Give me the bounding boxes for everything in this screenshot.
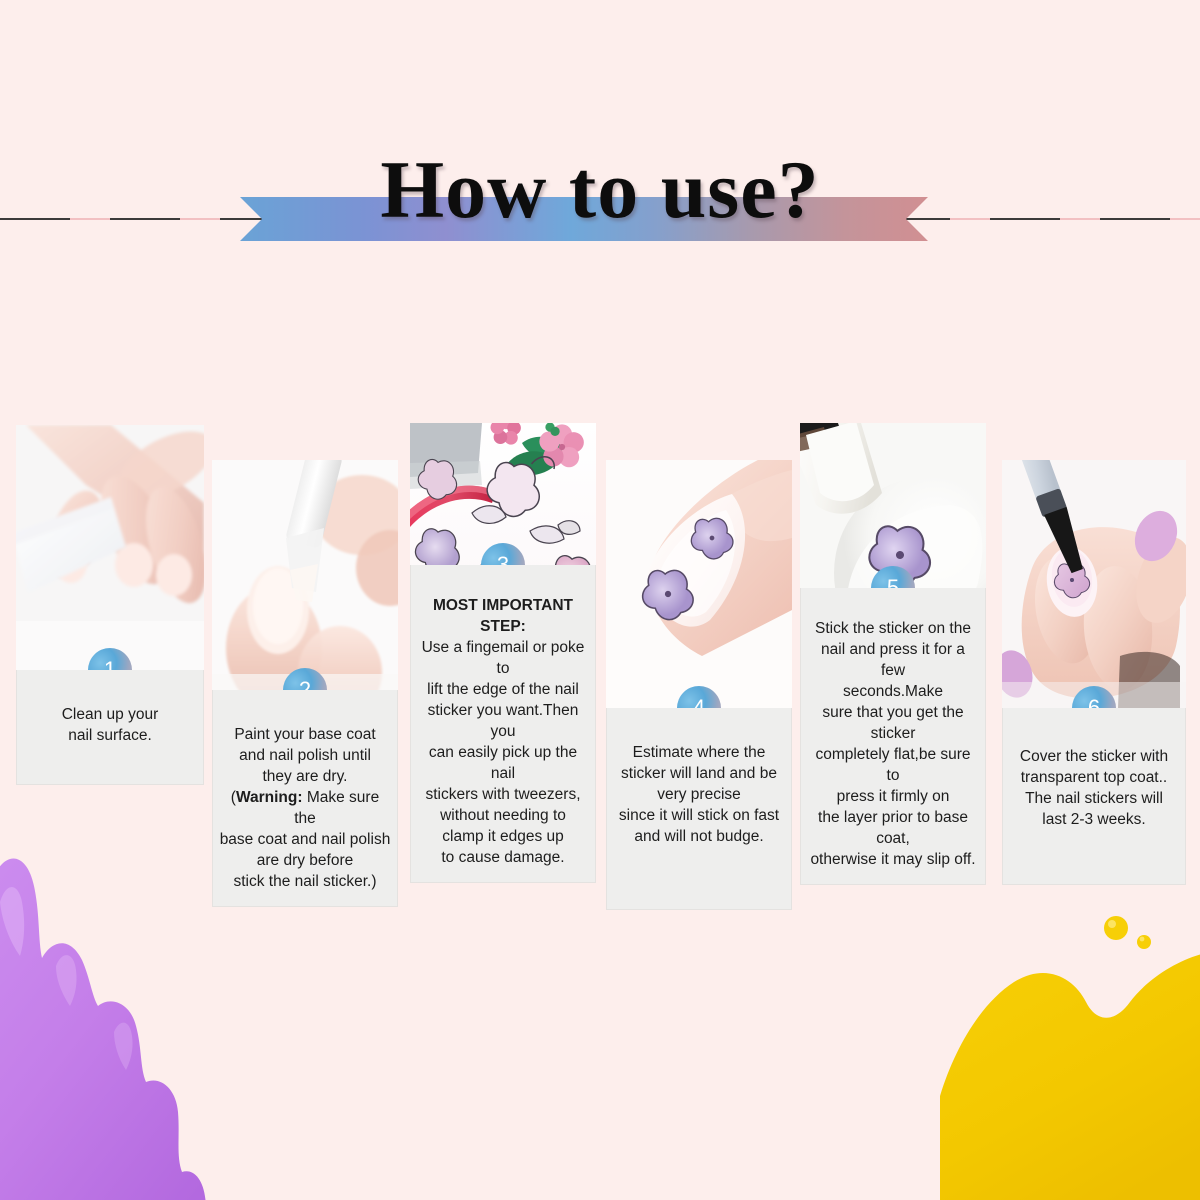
- step-panel-3: 3 MOST IMPORTANT STEP: Use a fingemail o…: [410, 423, 596, 883]
- step-caption-4: Estimate where the sticker will land and…: [606, 708, 792, 910]
- step-photo-6: 6: [1002, 460, 1186, 708]
- caption-line: very precise: [613, 784, 785, 805]
- infographic-canvas: How to use?: [0, 0, 1200, 1200]
- step-panel-5: 5 Stick the sticker on the nail and pres…: [800, 423, 986, 885]
- yellow-paint-splash: [940, 900, 1200, 1200]
- caption-line: they are dry.: [219, 766, 391, 787]
- caption-line: sure that you get the sticker: [807, 702, 979, 744]
- step-caption-5: Stick the sticker on the nail and press …: [800, 588, 986, 885]
- step-panel-6: 6 Cover the sticker with transparent top…: [1002, 460, 1186, 885]
- step-caption-3: MOST IMPORTANT STEP: Use a fingemail or …: [410, 565, 596, 883]
- caption-line: The nail stickers will: [1009, 788, 1179, 809]
- step-photo-5: 5: [800, 423, 986, 588]
- caption-line: can easily pick up the nail: [417, 742, 589, 784]
- caption-line: seconds.Make: [807, 681, 979, 702]
- step-photo-4: 4: [606, 460, 792, 708]
- purple-paint-splash: [0, 790, 250, 1200]
- caption-line: Clean up your: [23, 704, 197, 725]
- caption-line: sticker will land and be: [613, 763, 785, 784]
- caption-line: completely flat,be sure to: [807, 744, 979, 786]
- caption-line: since it will stick on fast: [613, 805, 785, 826]
- step-caption-1: Clean up your nail surface.: [16, 670, 204, 785]
- hands-buffing-nail-illustration: [16, 425, 204, 670]
- page-title: How to use?: [0, 143, 1200, 237]
- yellow-droplet-large: [1104, 916, 1128, 940]
- caption-line: press it firmly on: [807, 786, 979, 807]
- caption-line: transparent top coat..: [1009, 767, 1179, 788]
- step-caption-6: Cover the sticker with transparent top c…: [1002, 708, 1186, 885]
- caption-line: otherwise it may slip off.: [807, 849, 979, 870]
- caption-line: without needing to: [417, 805, 589, 826]
- caption-line: Cover the sticker with: [1009, 746, 1179, 767]
- caption-line: clamp it edges up: [417, 826, 589, 847]
- step-panel-1: 1 Clean up your nail surface.: [16, 425, 204, 785]
- applying-top-coat-illustration: [1002, 460, 1186, 708]
- caption-line: stickers with tweezers,: [417, 784, 589, 805]
- step-photo-2: 2: [212, 460, 398, 690]
- caption-line: last 2-3 weeks.: [1009, 809, 1179, 830]
- caption-line: sticker you want.Then you: [417, 700, 589, 742]
- caption-line: the layer prior to base coat,: [807, 807, 979, 849]
- caption-line: nail and press it for a few: [807, 639, 979, 681]
- caption-lead: MOST IMPORTANT STEP:: [417, 595, 589, 637]
- caption-line: Stick the sticker on the: [807, 618, 979, 639]
- flower-stickers-on-nail-illustration: [606, 460, 792, 708]
- applying-base-coat-illustration: [212, 460, 398, 690]
- step-panel-4: 4 Estimate where the sticker will land a…: [606, 460, 792, 910]
- step-photo-1: 1: [16, 425, 204, 670]
- caption-line: Estimate where the: [613, 742, 785, 763]
- step-photo-3: 3: [410, 423, 596, 565]
- caption-line: Use a fingemail or poke to: [417, 637, 589, 679]
- caption-line: to cause damage.: [417, 847, 589, 868]
- caption-line: and will not budge.: [613, 826, 785, 847]
- pressing-sticker-onto-nail-illustration: [800, 423, 986, 588]
- caption-line: and nail polish until: [219, 745, 391, 766]
- caption-line: Paint your base coat: [219, 724, 391, 745]
- yellow-droplet-small: [1137, 935, 1151, 949]
- caption-line: lift the edge of the nail: [417, 679, 589, 700]
- caption-line: nail surface.: [23, 725, 197, 746]
